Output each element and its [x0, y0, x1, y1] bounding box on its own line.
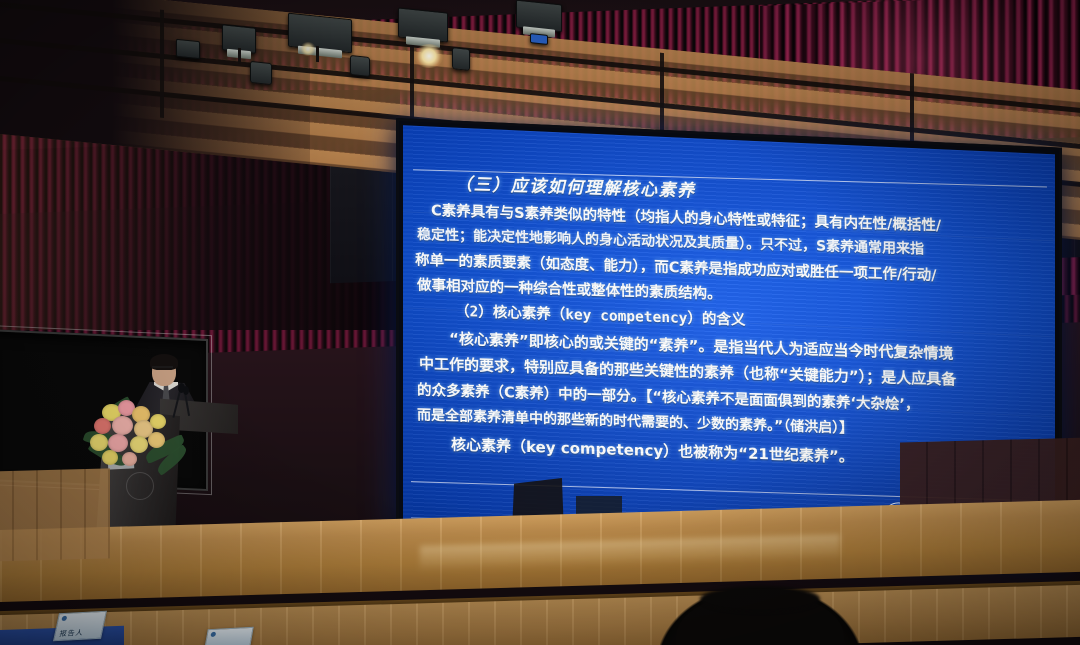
stage-spotlight-icon-8 — [452, 47, 470, 71]
lamp-flare-icon-1 — [414, 44, 444, 68]
lecture-hall-photo: （三）应该如何理解核心素养 C素养具有与S素养类似的特性（均指人的身心特性或特征… — [0, 0, 1080, 645]
stage-spotlight-icon-3 — [398, 7, 448, 42]
stage-spotlight-icon-2 — [288, 13, 352, 54]
name-placard-2 — [204, 627, 254, 645]
slide-title: （三）应该如何理解核心素养 — [455, 170, 696, 202]
spotlight-yoke-1 — [238, 48, 241, 64]
microphone-head-icon-2 — [183, 386, 189, 395]
placard-logo-icon-2 — [210, 632, 216, 637]
speaker-glasses-icon — [152, 366, 173, 373]
flower-arrangement — [84, 396, 188, 472]
name-placard-1: 报告人 — [53, 611, 107, 642]
spotlight-yoke-2 — [316, 46, 319, 62]
stage-spotlight-icon-4 — [516, 0, 562, 32]
lamp-flare-icon-2 — [300, 42, 316, 56]
placard-logo-icon — [61, 616, 67, 621]
left-wall-panel — [0, 468, 110, 561]
stage-spotlight-icon-6 — [250, 61, 272, 85]
podium-emblem-icon — [126, 472, 154, 500]
stage-spotlight-icon-7 — [350, 55, 370, 77]
truss-cross-1 — [160, 10, 164, 118]
audience-head-tuft — [700, 586, 820, 612]
blue-gel-light-icon — [530, 33, 548, 45]
placard-label-1: 报告人 — [58, 628, 84, 639]
stage-spotlight-icon-5 — [176, 39, 200, 60]
